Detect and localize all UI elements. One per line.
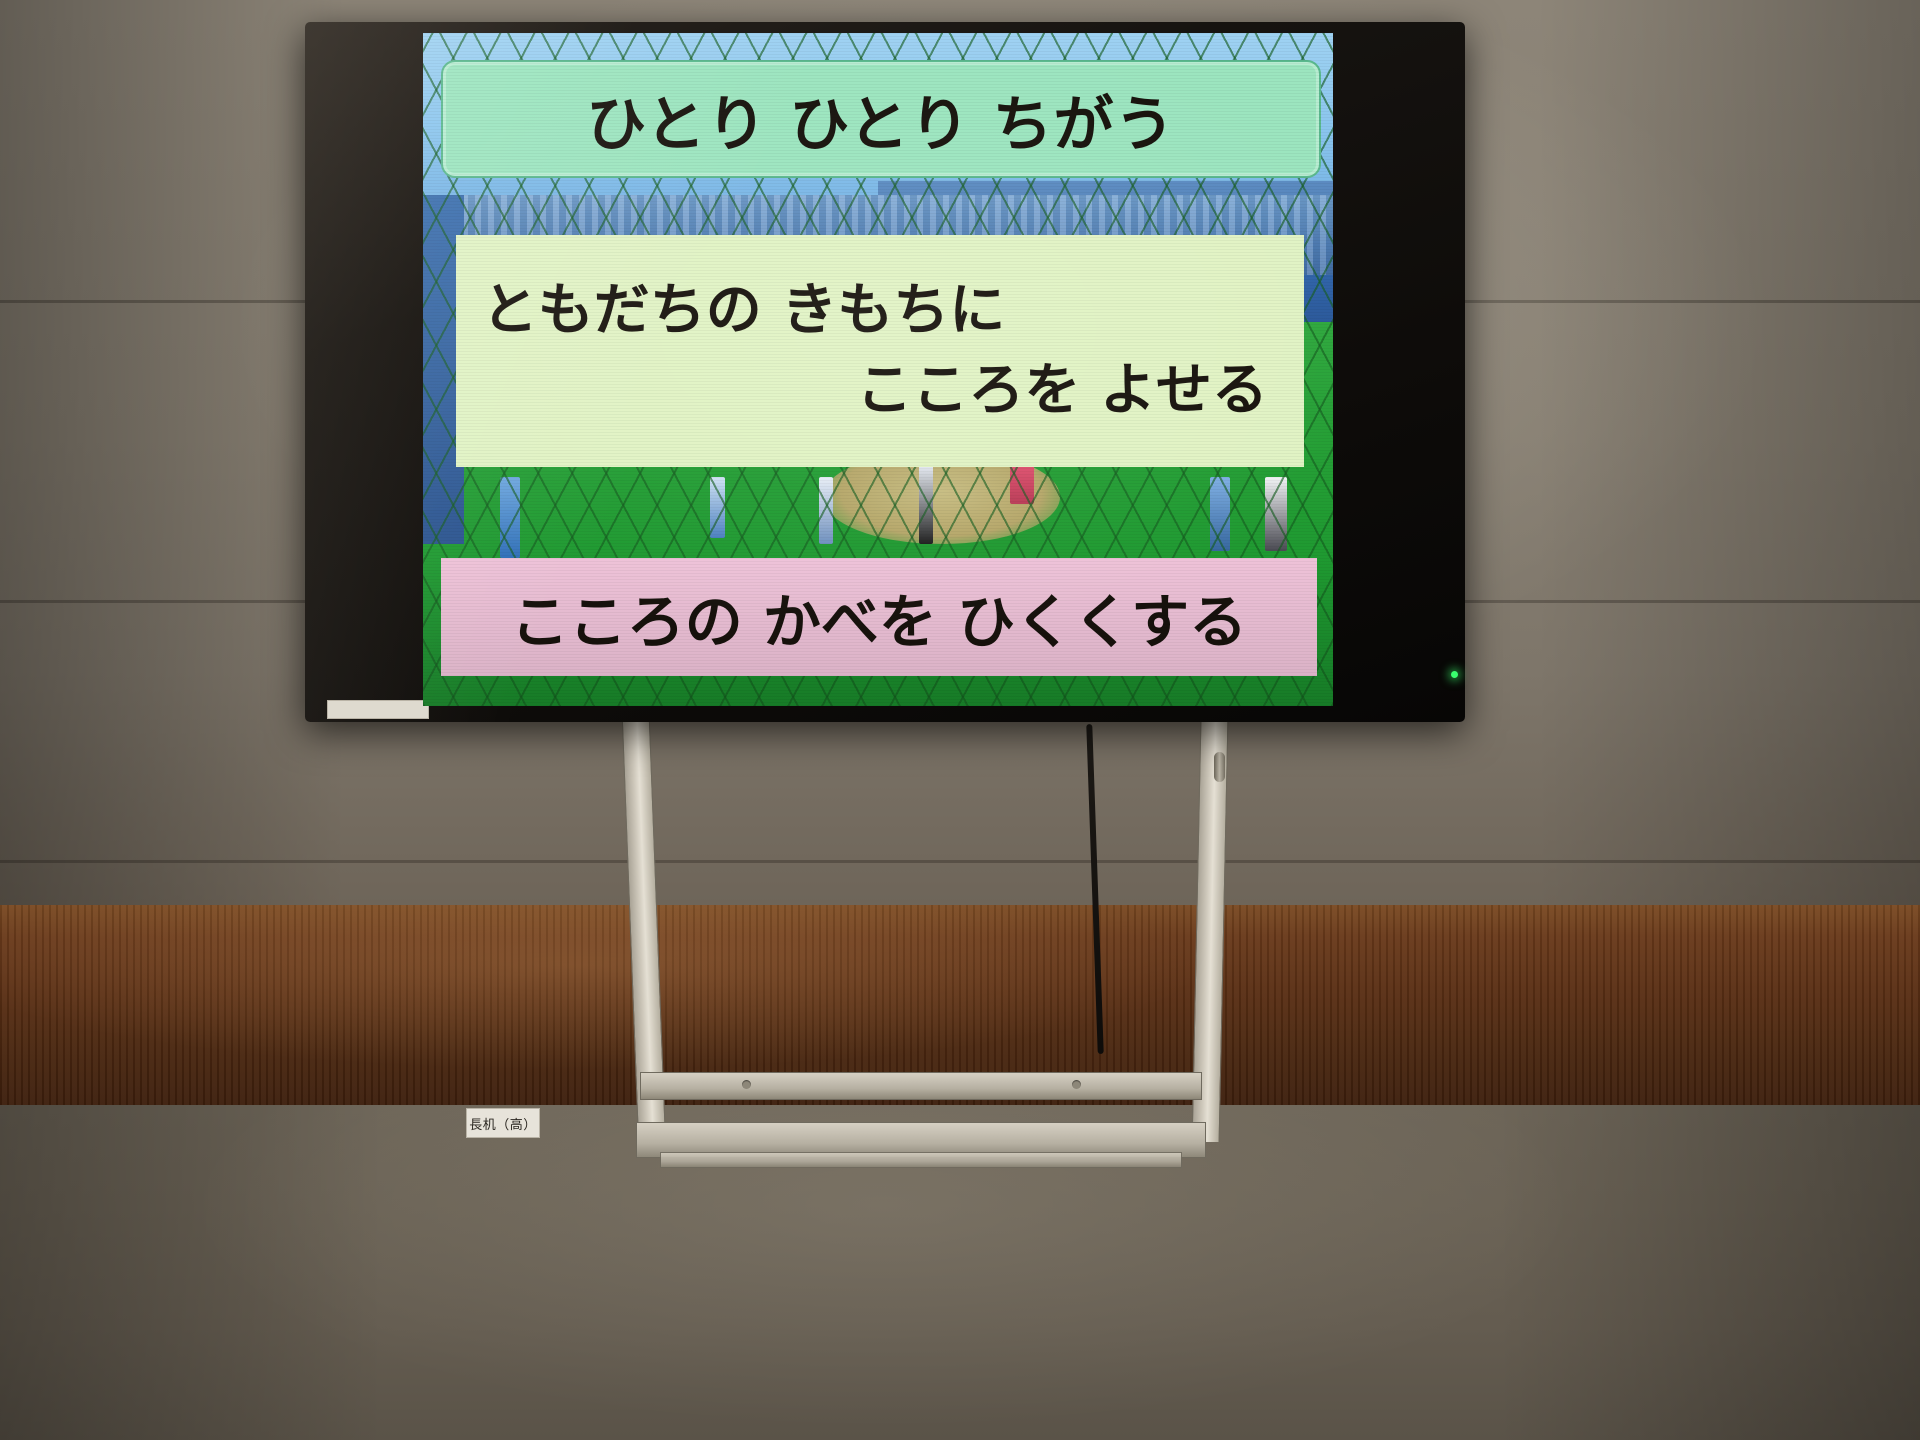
stand-screw-left [742,1080,751,1089]
stand-crossbar-upper [640,1072,1202,1100]
room-scene: 長机（高） [0,0,1920,1440]
photo-player [1265,477,1287,551]
power-led-icon [1451,671,1458,678]
photo-player [819,477,834,544]
photo-player [1210,477,1230,551]
slide-middle-line-2: こころを よせる [856,351,1278,431]
photo-player [500,477,520,558]
stand-shelf [660,1152,1182,1168]
table-label-sticker: 長机（高） [466,1108,540,1138]
stand-height-knob[interactable] [1214,752,1225,782]
photo-player [1010,464,1034,504]
photo-player [710,477,725,538]
bezel-asset-sticker [327,700,429,719]
slide-title-box: ひとり ひとり ちがう [441,60,1320,178]
display-screen[interactable]: ひとり ひとり ちがう ともだちの きもちに こころを よせる こころの かべを… [423,33,1333,706]
slide-title-text: ひとり ひとり ちがう [586,76,1175,163]
slide-middle-box: ともだちの きもちに こころを よせる [456,235,1304,467]
slide-bottom-box: こころの かべを ひくくする [441,558,1316,676]
table-label-text: 長机（高） [469,1114,537,1133]
slide-middle-line-1: ともだちの きもちに [482,271,1006,351]
slide-bottom-text: こころの かべを ひくくする [511,575,1247,659]
photo-player [919,464,933,545]
stand-screw-right [1072,1080,1081,1089]
flat-panel-display[interactable]: ひとり ひとり ちがう ともだちの きもちに こころを よせる こころの かべを… [305,22,1465,722]
presentation-slide: ひとり ひとり ちがう ともだちの きもちに こころを よせる こころの かべを… [423,33,1333,706]
